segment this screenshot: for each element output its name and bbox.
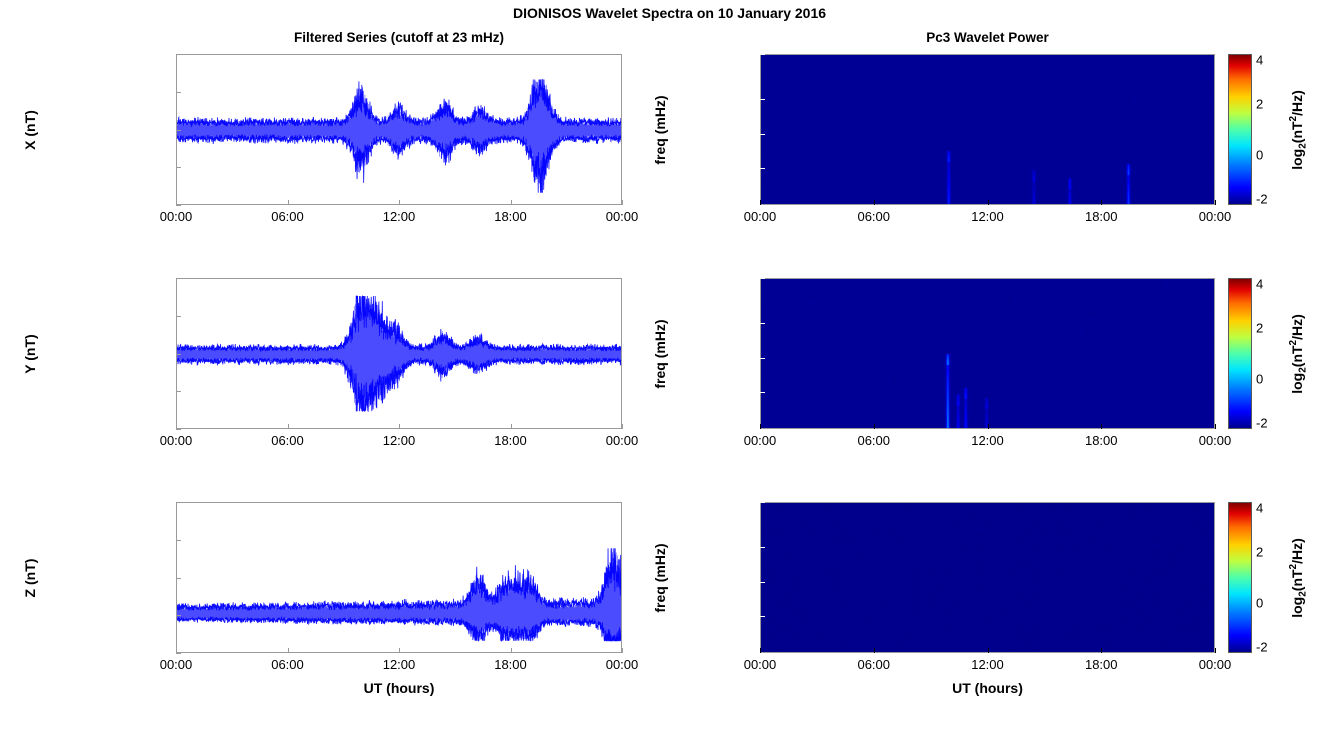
timeseries-ytick-mark — [176, 54, 181, 55]
timeseries-ytick-mark — [176, 167, 181, 168]
colorbar-gradient — [1228, 278, 1252, 429]
timeseries-xtick-mark — [176, 424, 177, 429]
wavelet-freq-tick-mark — [760, 502, 765, 503]
wavelet-xtick-mark — [1101, 648, 1102, 653]
wavelet-plot-area-y — [760, 278, 1215, 429]
colorbar-label-text: log2(nT2/Hz) — [1288, 314, 1304, 394]
timeseries-ytick-mark — [176, 316, 181, 317]
timeseries-xtick-mark — [288, 424, 289, 429]
wavelet-column-title: Pc3 Wavelet Power — [760, 30, 1215, 45]
timeseries-xtick-mark — [288, 200, 289, 205]
wavelet-freq-axis-label: freq (mHz) — [652, 294, 668, 414]
wavelet-xtick-mark — [988, 200, 989, 205]
wavelet-xtick-label: 12:00 — [953, 657, 1023, 672]
timeseries-ylabel-x: X (nT) — [22, 70, 38, 190]
timeseries-ytick-mark — [176, 578, 181, 579]
wavelet-xtick-mark — [760, 200, 761, 205]
wavelet-xtick-mark — [1215, 424, 1216, 429]
colorbar-tick-label: 0 — [1256, 371, 1263, 386]
wavelet-xtick-mark — [874, 424, 875, 429]
wavelet-freq-tick-mark — [760, 547, 765, 548]
timeseries-xlabel: UT (hours) — [176, 680, 622, 696]
wavelet-freq-tick-mark — [760, 653, 765, 654]
timeseries-trace-x — [177, 55, 622, 205]
wavelet-freq-tick-mark — [760, 392, 765, 393]
timeseries-ytick-mark — [176, 391, 181, 392]
colorbar-tick-label: 4 — [1256, 501, 1263, 516]
timeseries-xtick-label: 06:00 — [253, 209, 323, 224]
timeseries-xtick-label: 18:00 — [476, 433, 546, 448]
wavelet-power-image-z — [761, 503, 1215, 653]
timeseries-xtick-mark — [176, 648, 177, 653]
colorbar-gradient — [1228, 502, 1252, 653]
timeseries-ylabel-y: Y (nT) — [22, 294, 38, 414]
wavelet-xlabel: UT (hours) — [760, 680, 1215, 696]
timeseries-xtick-mark — [511, 424, 512, 429]
wavelet-xtick-mark — [988, 648, 989, 653]
timeseries-ytick-mark — [176, 354, 181, 355]
timeseries-xtick-label: 06:00 — [253, 433, 323, 448]
colorbar-tick-label: -2 — [1256, 640, 1268, 655]
colorbar-z: 420-2log2(nT2/Hz) — [1228, 502, 1338, 653]
wavelet-xtick-label: 18:00 — [1066, 433, 1136, 448]
wavelet-xtick-label: 06:00 — [839, 433, 909, 448]
wavelet-xtick-label: 00:00 — [1180, 209, 1250, 224]
timeseries-xtick-mark — [622, 200, 623, 205]
timeseries-xtick-label: 12:00 — [364, 433, 434, 448]
wavelet-freq-tick-mark — [760, 134, 765, 135]
wavelet-xtick-label: 06:00 — [839, 209, 909, 224]
wavelet-freq-tick-mark — [760, 323, 765, 324]
colorbar-y: 420-2log2(nT2/Hz) — [1228, 278, 1338, 429]
timeseries-ytick-mark — [176, 502, 181, 503]
colorbar-tick-label: 0 — [1256, 595, 1263, 610]
timeseries-xtick-mark — [176, 200, 177, 205]
wavelet-xtick-mark — [760, 648, 761, 653]
wavelet-freq-tick-mark — [760, 168, 765, 169]
figure-canvas: DIONISOS Wavelet Spectra on 10 January 2… — [0, 0, 1339, 754]
wavelet-freq-tick-mark — [760, 54, 765, 55]
timeseries-xtick-mark — [511, 648, 512, 653]
timeseries-xtick-mark — [622, 648, 623, 653]
timeseries-xtick-label: 00:00 — [587, 657, 657, 672]
wavelet-plot-area-z — [760, 502, 1215, 653]
colorbar-tick-label: 4 — [1256, 277, 1263, 292]
wavelet-xtick-mark — [874, 200, 875, 205]
timeseries-plot-area-z — [176, 502, 622, 653]
timeseries-xtick-mark — [511, 200, 512, 205]
wavelet-xtick-mark — [1215, 200, 1216, 205]
timeseries-xtick-mark — [399, 648, 400, 653]
timeseries-trace-z — [177, 503, 622, 653]
timeseries-xtick-mark — [288, 648, 289, 653]
wavelet-freq-tick-mark — [760, 99, 765, 100]
timeseries-plot-area-y — [176, 278, 622, 429]
wavelet-xtick-mark — [988, 424, 989, 429]
wavelet-xtick-label: 06:00 — [839, 657, 909, 672]
timeseries-ytick-mark — [176, 540, 181, 541]
wavelet-xtick-label: 00:00 — [1180, 433, 1250, 448]
wavelet-xtick-label: 18:00 — [1066, 209, 1136, 224]
wavelet-xtick-mark — [760, 424, 761, 429]
wavelet-freq-tick-mark — [760, 205, 765, 206]
wavelet-xtick-label: 12:00 — [953, 209, 1023, 224]
wavelet-freq-tick-mark — [760, 278, 765, 279]
page-title: DIONISOS Wavelet Spectra on 10 January 2… — [0, 5, 1339, 21]
wavelet-freq-axis-label: freq (mHz) — [652, 518, 668, 638]
colorbar-tick-label: 2 — [1256, 321, 1263, 336]
timeseries-xtick-label: 18:00 — [476, 209, 546, 224]
wavelet-freq-tick-mark — [760, 429, 765, 430]
colorbar-tick-label: -2 — [1256, 416, 1268, 431]
wavelet-xtick-label: 12:00 — [953, 433, 1023, 448]
timeseries-column-title: Filtered Series (cutoff at 23 mHz) — [176, 30, 622, 45]
timeseries-xtick-label: 00:00 — [587, 433, 657, 448]
wavelet-freq-axis-label: freq (mHz) — [652, 70, 668, 190]
timeseries-xtick-label: 00:00 — [141, 433, 211, 448]
colorbar-label-text: log2(nT2/Hz) — [1288, 90, 1304, 170]
timeseries-xtick-label: 00:00 — [141, 657, 211, 672]
colorbar-axis-label: log2(nT2/Hz) — [1288, 294, 1308, 414]
wavelet-xtick-label: 00:00 — [725, 433, 795, 448]
timeseries-ytick-mark — [176, 278, 181, 279]
colorbar-axis-label: log2(nT2/Hz) — [1288, 70, 1308, 190]
colorbar-x: 420-2log2(nT2/Hz) — [1228, 54, 1338, 205]
timeseries-xtick-mark — [399, 200, 400, 205]
timeseries-ytick-mark — [176, 429, 181, 430]
timeseries-xtick-label: 00:00 — [587, 209, 657, 224]
colorbar-gradient — [1228, 54, 1252, 205]
timeseries-xtick-mark — [399, 424, 400, 429]
wavelet-plot-area-x — [760, 54, 1215, 205]
wavelet-power-image-y — [761, 279, 1215, 429]
timeseries-xtick-label: 12:00 — [364, 209, 434, 224]
colorbar-tick-label: 2 — [1256, 97, 1263, 112]
wavelet-xtick-label: 00:00 — [725, 209, 795, 224]
colorbar-tick-label: 2 — [1256, 545, 1263, 560]
wavelet-freq-tick-mark — [760, 616, 765, 617]
wavelet-xtick-label: 00:00 — [725, 657, 795, 672]
wavelet-xtick-mark — [1101, 200, 1102, 205]
colorbar-axis-label: log2(nT2/Hz) — [1288, 518, 1308, 638]
timeseries-xtick-label: 18:00 — [476, 657, 546, 672]
timeseries-trace-y — [177, 279, 622, 429]
wavelet-xtick-label: 00:00 — [1180, 657, 1250, 672]
wavelet-xtick-mark — [874, 648, 875, 653]
timeseries-plot-area-x — [176, 54, 622, 205]
colorbar-tick-label: -2 — [1256, 192, 1268, 207]
colorbar-label-text: log2(nT2/Hz) — [1288, 538, 1304, 618]
timeseries-ytick-mark — [176, 92, 181, 93]
timeseries-xtick-mark — [622, 424, 623, 429]
timeseries-ytick-mark — [176, 653, 181, 654]
wavelet-freq-tick-mark — [760, 358, 765, 359]
timeseries-ytick-mark — [176, 615, 181, 616]
timeseries-ylabel-z: Z (nT) — [22, 518, 38, 638]
wavelet-freq-tick-mark — [760, 582, 765, 583]
colorbar-tick-label: 4 — [1256, 53, 1263, 68]
timeseries-xtick-label: 06:00 — [253, 657, 323, 672]
timeseries-xtick-label: 12:00 — [364, 657, 434, 672]
timeseries-ytick-mark — [176, 205, 181, 206]
wavelet-xtick-mark — [1101, 424, 1102, 429]
wavelet-power-image-x — [761, 55, 1215, 205]
timeseries-ytick-mark — [176, 130, 181, 131]
wavelet-xtick-label: 18:00 — [1066, 657, 1136, 672]
colorbar-tick-label: 0 — [1256, 147, 1263, 162]
wavelet-xtick-mark — [1215, 648, 1216, 653]
timeseries-xtick-label: 00:00 — [141, 209, 211, 224]
